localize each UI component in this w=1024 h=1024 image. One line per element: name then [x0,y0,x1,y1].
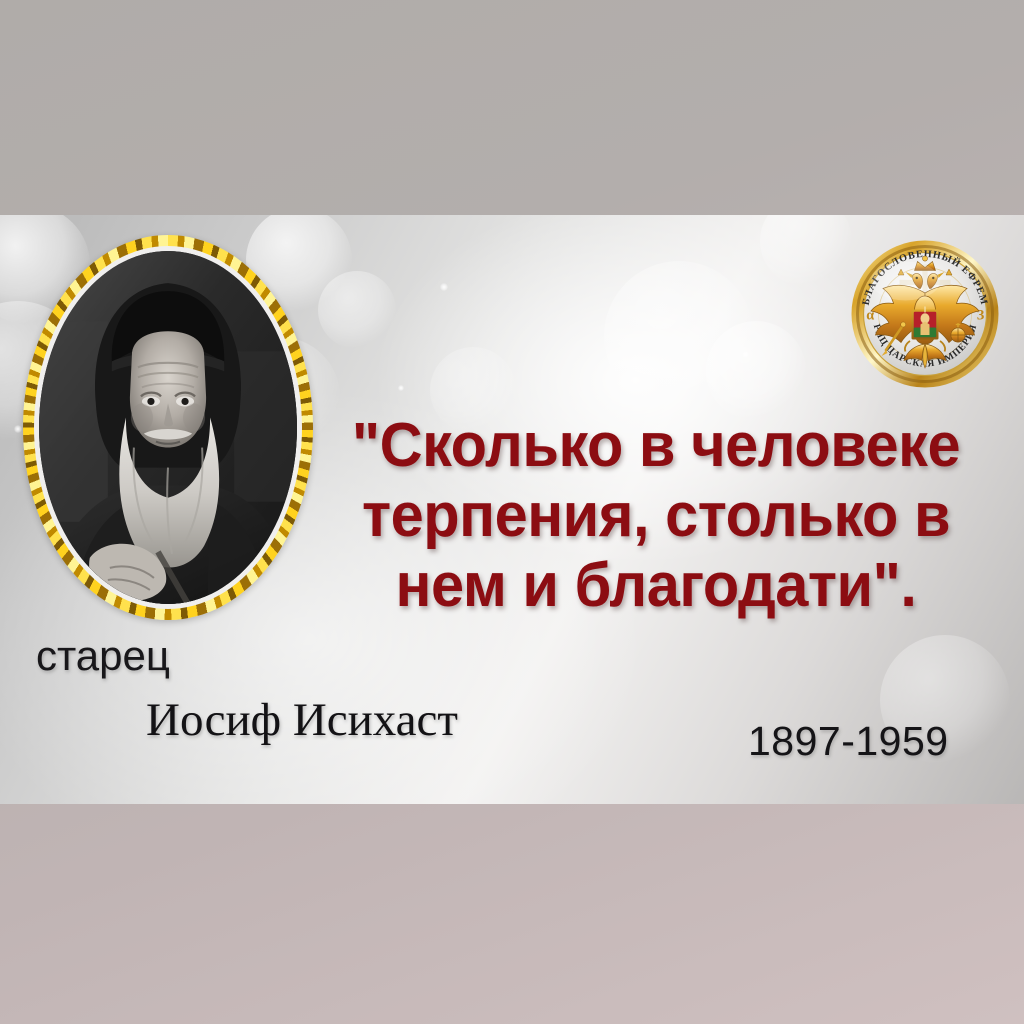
sparkle-dot [398,385,404,391]
quote-line-1: "Сколько в человеке [349,411,963,481]
quote-card: БЛАГОСЛОВЕННЫЙ ЕФРЕМ РПЦ ЦАРСКАЯ ИМПЕРИЯ… [0,215,1024,804]
portrait [23,235,313,620]
emblem-logo: БЛАГОСЛОВЕННЫЙ ЕФРЕМ РПЦ ЦАРСКАЯ ИМПЕРИЯ… [850,239,1000,389]
quote-line-3: нем и благодати". [349,551,963,621]
sparkle-dot [14,425,22,433]
author-name: Иосиф Исихаст [146,693,458,747]
author-role: старец [36,632,170,680]
bokeh-circle [760,215,852,287]
bokeh-circle [706,321,806,421]
portrait-photo [39,251,297,604]
sparkle-dot [742,351,749,358]
author-years: 1897-1959 [748,718,949,765]
portrait-gold-frame [23,235,313,620]
bokeh-circle [604,261,754,411]
quote-text: "Сколько в человеке терпения, столько в … [349,411,963,621]
quote-line-2: терпения, столько в [349,481,963,551]
bokeh-circle [318,271,396,349]
sparkle-dot [440,283,448,291]
